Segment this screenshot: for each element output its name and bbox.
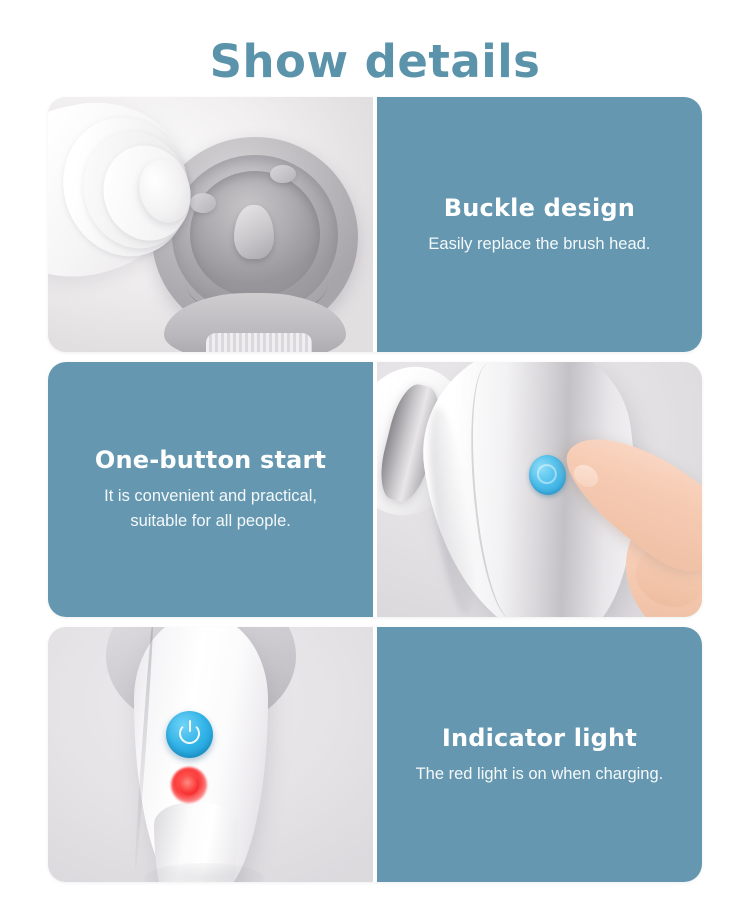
feature-heading: Indicator light xyxy=(442,723,637,753)
socket-drive-spindle xyxy=(234,205,274,259)
power-symbol-icon xyxy=(179,723,200,744)
feature-row-buckle-design: Buckle design Easily replace the brush h… xyxy=(48,97,702,352)
finger-pressing-power-button-photo xyxy=(377,362,702,617)
feature-heading: Buckle design xyxy=(444,193,635,223)
feature-text-panel-buckle-design: Buckle design Easily replace the brush h… xyxy=(377,97,702,352)
page-title: Show details xyxy=(0,34,750,90)
feature-heading: One-button start xyxy=(95,445,326,475)
photo-content-one-button xyxy=(377,362,702,617)
handle-with-power-button-and-red-led-photo xyxy=(48,627,373,882)
feature-row-one-button-start: One-button start It is convenient and pr… xyxy=(48,362,702,617)
brush-head-and-buckle-socket-photo xyxy=(48,97,373,352)
red-charging-led xyxy=(179,775,199,795)
socket-locking-tab-right xyxy=(270,165,296,183)
socket-locking-tab-left xyxy=(190,193,216,213)
feature-body-text: The red light is on when charging. xyxy=(416,762,664,787)
feature-text-panel-one-button-start: One-button start It is convenient and pr… xyxy=(48,362,373,617)
photo-content-buckle xyxy=(48,97,373,352)
feature-body-text: Easily replace the brush head. xyxy=(428,232,650,257)
brush-bristles xyxy=(206,333,312,352)
feature-card-grid: Buckle design Easily replace the brush h… xyxy=(48,97,702,886)
feature-text-panel-indicator-light: Indicator light The red light is on when… xyxy=(377,627,702,882)
feature-body-text: It is convenient and practical, suitable… xyxy=(81,484,341,534)
photo-content-indicator xyxy=(48,627,373,882)
feature-row-indicator-light: Indicator light The red light is on when… xyxy=(48,627,702,882)
power-button-icon xyxy=(166,711,213,758)
